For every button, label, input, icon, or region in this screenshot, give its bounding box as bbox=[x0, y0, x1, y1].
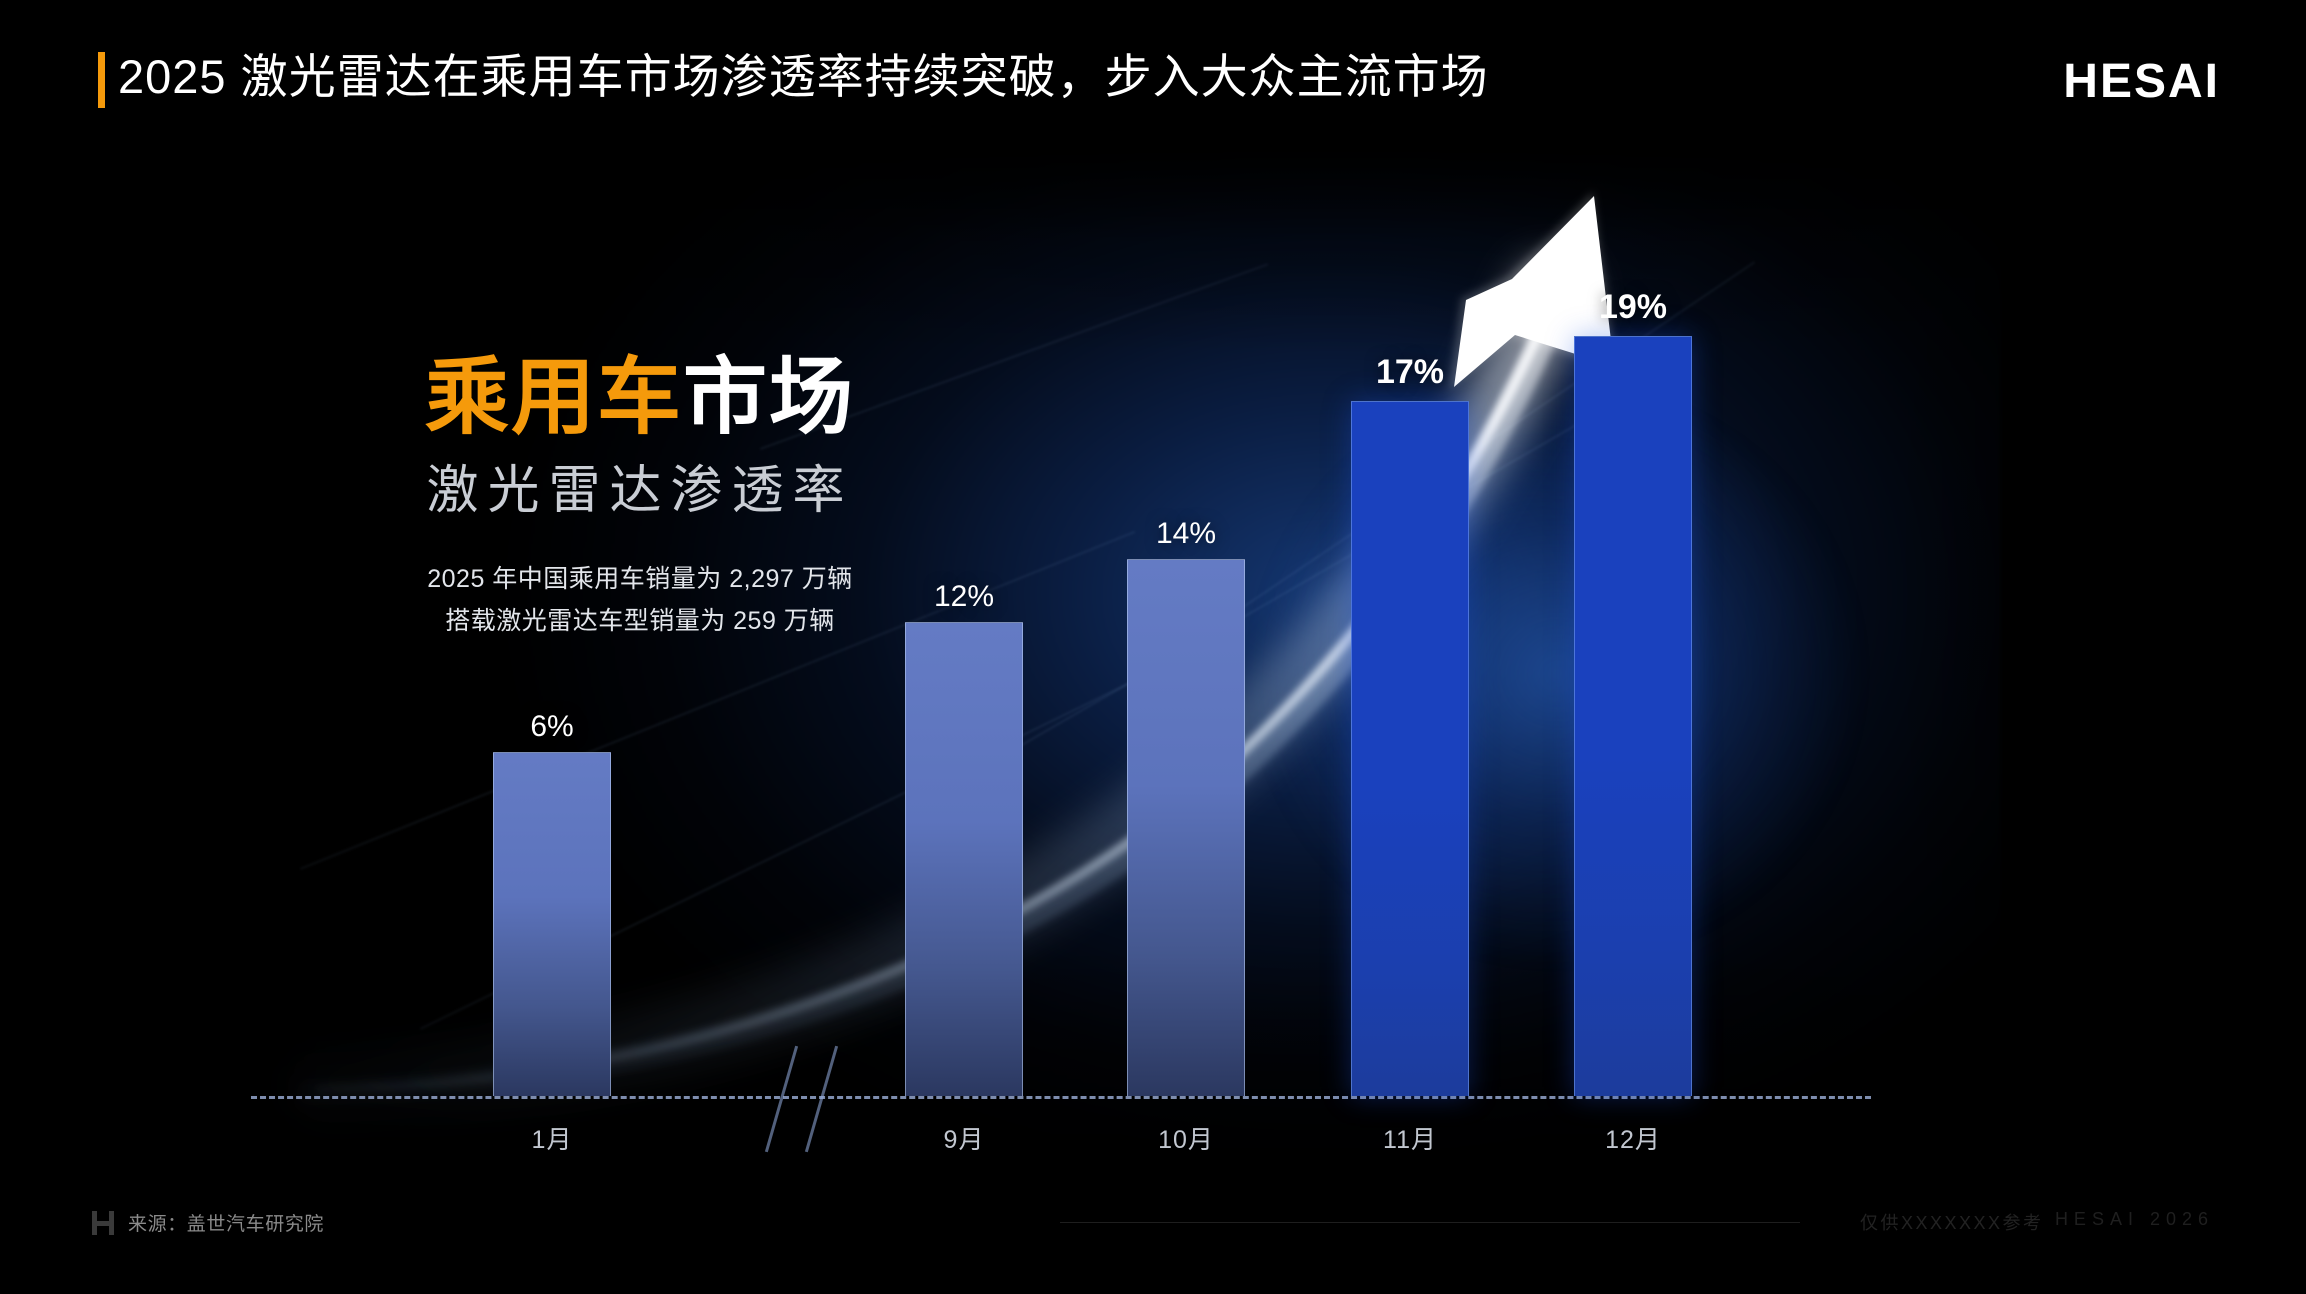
footer-divider bbox=[1060, 1222, 1800, 1223]
title-accent-bar bbox=[98, 52, 105, 108]
bar-value-label: 19% bbox=[1599, 288, 1667, 327]
slide-header: 2025 激光雷达在乘用车市场渗透率持续突破，步入大众主流市场 HESAI bbox=[0, 0, 2306, 148]
source-note: 来源：盖世汽车研究院 bbox=[128, 1209, 324, 1236]
bar-column: 12% bbox=[905, 622, 1023, 1096]
slide-body: 乘用车市场 激光雷达渗透率 2025 年中国乘用车销量为 2,297 万辆 搭载… bbox=[0, 148, 2306, 1174]
hesai-mark-icon bbox=[92, 1211, 114, 1235]
bar-rect[interactable] bbox=[905, 622, 1023, 1096]
headline-orange: 乘用车 bbox=[425, 350, 683, 444]
headline-white: 市场 bbox=[683, 350, 855, 444]
x-axis-tick-label: 10月 bbox=[1158, 1120, 1214, 1156]
footer-copyright: HESAI 2026 bbox=[2055, 1209, 2214, 1230]
x-axis-tick-label: 12月 bbox=[1605, 1120, 1661, 1156]
slide-canvas: 2025 激光雷达在乘用车市场渗透率持续突破，步入大众主流市场 HESAI 乘用… bbox=[0, 0, 2306, 1294]
chart-baseline bbox=[251, 1096, 1871, 1099]
bar-column: 19% bbox=[1574, 336, 1692, 1096]
bar-value-label: 6% bbox=[530, 710, 573, 744]
x-axis-tick-label: 11月 bbox=[1383, 1120, 1437, 1156]
bar-value-label: 14% bbox=[1156, 517, 1216, 551]
note-line-1: 2025 年中国乘用车销量为 2,297 万辆 bbox=[330, 558, 950, 600]
x-axis-tick-label: 1月 bbox=[532, 1120, 573, 1156]
bar-column: 14% bbox=[1127, 559, 1245, 1096]
axis-break-mark bbox=[765, 1046, 798, 1153]
subheadline: 激光雷达渗透率 bbox=[330, 454, 950, 528]
bar-rect[interactable] bbox=[1127, 559, 1245, 1096]
bar-chart: 6% 1月 12% 9月 14% 10月 17% 11月 bbox=[250, 148, 2170, 1174]
page-title: 2025 激光雷达在乘用车市场渗透率持续突破，步入大众主流市场 bbox=[118, 44, 1489, 110]
headline: 乘用车市场 bbox=[330, 348, 950, 446]
bar-column: 17% bbox=[1351, 401, 1469, 1096]
bar-rect[interactable] bbox=[493, 752, 611, 1096]
confidential-note: 仅供XXXXXXX参考 bbox=[1860, 1209, 2044, 1235]
bar-value-label: 17% bbox=[1376, 353, 1444, 392]
note-line-2: 搭载激光雷达车型销量为 259 万辆 bbox=[330, 600, 950, 642]
axis-break-mark bbox=[805, 1046, 838, 1153]
bar-column: 6% bbox=[493, 752, 611, 1096]
x-axis-tick-label: 9月 bbox=[944, 1120, 985, 1156]
bar-rect[interactable] bbox=[1574, 336, 1692, 1096]
left-copy-block: 乘用车市场 激光雷达渗透率 2025 年中国乘用车销量为 2,297 万辆 搭载… bbox=[330, 348, 950, 642]
bar-rect[interactable] bbox=[1351, 401, 1469, 1096]
note-block: 2025 年中国乘用车销量为 2,297 万辆 搭载激光雷达车型销量为 259 … bbox=[330, 558, 950, 642]
hesai-logo: HESAI bbox=[2063, 55, 2220, 109]
